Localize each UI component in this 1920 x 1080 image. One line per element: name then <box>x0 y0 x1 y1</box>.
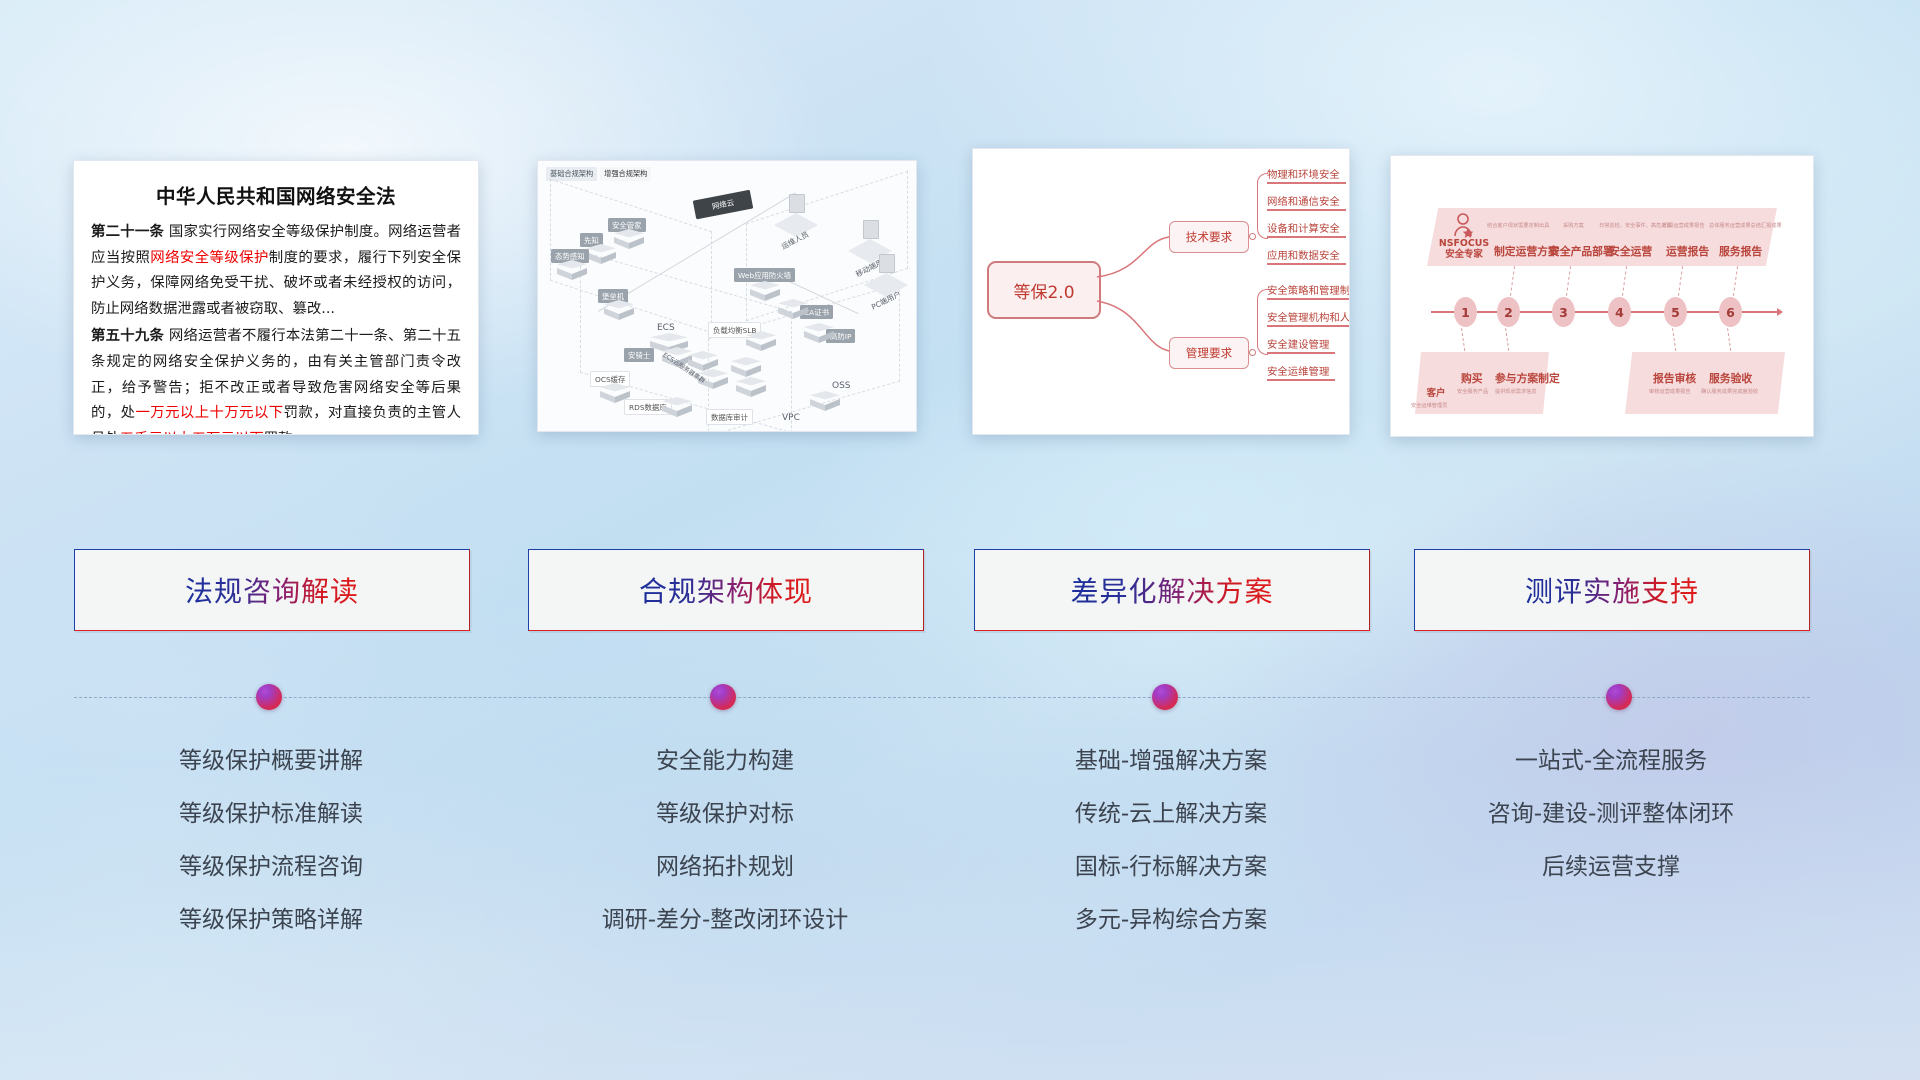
bullet-item: 传统-云上解决方案 <box>974 788 1368 841</box>
bullet-item: 等级保护概要讲解 <box>74 735 468 788</box>
law-article-21-label: 第二十一条 <box>91 224 164 240</box>
headline-label-4: 测评实施支持 <box>1525 570 1699 610</box>
arch-tab-enhanced[interactable]: 增强合规架构 <box>600 167 651 181</box>
rail-bullet-4[interactable] <box>1606 684 1632 710</box>
timeline-bottom-right-label-2: 服务验收 <box>1709 370 1752 386</box>
timeline-label-6: 服务报告 <box>1719 243 1762 259</box>
timeline-node-2[interactable]: 2 <box>1497 297 1520 327</box>
mindmap-leaf-device-compute: 设备和计算安全 <box>1267 220 1340 235</box>
bullet-item: 国标-行标解决方案 <box>974 841 1368 894</box>
arch-box-anti-ddos-ip <box>804 323 834 343</box>
bullet-column-4: 一站式-全流程服务 咨询-建设-测评整体闭环 后续运营支撑 <box>1414 735 1808 894</box>
timeline-sub-3: 采购方案 <box>1563 222 1584 229</box>
mindmap-branch-technical: 技术要求 <box>1169 221 1249 253</box>
mindmap-leaf-physical-env: 物理和环境安全 <box>1267 166 1340 181</box>
rail-bullet-2[interactable] <box>710 684 736 710</box>
timeline-rail <box>74 697 1810 698</box>
timeline-customer-role: 客户 <box>1413 388 1459 399</box>
headline-label-2: 合规架构体现 <box>639 570 813 610</box>
bullet-item: 等级保护流程咨询 <box>74 841 468 894</box>
mindmap-leaf-org-personnel: 安全管理机构和人员 <box>1267 309 1350 324</box>
mindmap-leaf-policy-system: 安全策略和管理制度 <box>1267 282 1350 297</box>
timeline-bottom-right-label-1: 报告审核 <box>1653 370 1696 386</box>
headline-box-2[interactable]: 合规架构体现 <box>528 549 924 631</box>
arch-box-ecs-cluster-d <box>736 377 766 397</box>
arch-box-ecs-cluster-c <box>731 357 761 377</box>
timeline-node-6[interactable]: 6 <box>1719 297 1742 327</box>
timeline-sub-6: 总体服务运营成果总结汇报成果 <box>1709 222 1782 229</box>
bullet-item: 等级保护对标 <box>528 788 922 841</box>
timeline-node-3[interactable]: 3 <box>1552 297 1575 327</box>
mindmap-leaf-construction-mgmt: 安全建设管理 <box>1267 336 1329 351</box>
bullet-item: 等级保护标准解读 <box>74 788 468 841</box>
headline-box-4[interactable]: 测评实施支持 <box>1414 549 1810 631</box>
arch-tab-group[interactable]: 基础合规架构 增强合规架构 <box>546 167 651 181</box>
bullet-item: 咨询-建设-测评整体闭环 <box>1414 788 1808 841</box>
timeline-expert-role-line1: NSFOCUS <box>1439 238 1489 249</box>
arch-box-bastion-host <box>604 300 634 320</box>
timeline-sub-5: 阶段运营成果报告 <box>1663 222 1705 229</box>
card-architecture-diagram[interactable]: 基础合规架构 增强合规架构 网络云 安全管家 先知 态势感知 堡垒机 ECS 安… <box>537 160 917 432</box>
arch-screen-ops-user <box>789 194 805 213</box>
arch-box-oss <box>810 391 840 411</box>
arch-box-xianzhi <box>586 244 616 264</box>
timeline-expert-role-line2: 安全专家 <box>1445 249 1483 260</box>
mindmap-branch-management: 管理要求 <box>1169 337 1249 369</box>
arch-cloud-banner: 网络云 <box>693 190 754 220</box>
arch-box-ca-certificate <box>778 299 808 319</box>
bullet-item: 一站式-全流程服务 <box>1414 735 1808 788</box>
mindmap-leaf-network-comm: 网络和通信安全 <box>1267 193 1340 208</box>
card-service-timeline[interactable]: NSFOCUS 安全专家 结合客户现状需要定制出具 制定运营方案 采购方案 安全… <box>1390 155 1814 437</box>
timeline-bottom-left-sub-2: 提供现状需求信息 <box>1495 388 1537 395</box>
timeline-bottom-left-sub-1: 安全服务产品 <box>1457 388 1488 395</box>
timeline-node-1[interactable]: 1 <box>1454 297 1477 327</box>
arch-box-situational-awareness <box>557 260 587 280</box>
law-article-59-text-3: 罚款。 <box>264 431 307 435</box>
card-mind-map[interactable]: 等保2.0 技术要求 物理和环境安全 网络和通信安全 设备和计算安全 应用和数据… <box>972 148 1350 435</box>
bullet-item: 基础-增强解决方案 <box>974 735 1368 788</box>
arch-box-slb <box>746 331 776 351</box>
arch-screen-pc-user <box>879 254 895 273</box>
timeline-bottom-right-sub-1: 审核运营成果报告 <box>1649 388 1691 395</box>
timeline-sub-4: 日常巡检、安全事件、高危处置 <box>1599 222 1672 229</box>
timeline-customer-band-right <box>1625 352 1785 414</box>
bullet-column-3: 基础-增强解决方案 传统-云上解决方案 国标-行标解决方案 多元-异构综合方案 <box>974 735 1368 947</box>
bullet-column-2: 安全能力构建 等级保护对标 网络拓扑规划 调研-差分-整改闭环设计 <box>528 735 922 947</box>
bullet-item: 等级保护策略详解 <box>74 894 468 947</box>
bullet-item: 后续运营支撑 <box>1414 841 1808 894</box>
headline-box-3[interactable]: 差异化解决方案 <box>974 549 1370 631</box>
timeline-customer-role-sub: 安全运维管理员 <box>1411 402 1447 409</box>
arch-node-anqishi: 安骑士 <box>624 348 654 362</box>
bullet-item: 调研-差分-整改闭环设计 <box>528 894 922 947</box>
headline-label-3: 差异化解决方案 <box>1070 570 1273 610</box>
timeline-sub-2: 结合客户现状需要定制出具 <box>1487 222 1549 229</box>
mindmap-dot-management <box>1249 349 1256 356</box>
arch-box-rds-database <box>662 397 692 417</box>
arch-box-security-housekeeper <box>614 229 644 249</box>
arch-node-database-audit: 数据库审计 <box>706 409 753 425</box>
mindmap-leaf-ops-mgmt: 安全运维管理 <box>1267 363 1329 378</box>
card-law-document[interactable]: 中华人民共和国网络安全法 第二十一条 国家实行网络安全等级保护制度。网络运营者应… <box>73 160 479 435</box>
law-article-59-highlight-1: 一万元以上十万元以下 <box>135 405 283 421</box>
headline-box-1[interactable]: 法规咨询解读 <box>74 549 470 631</box>
timeline-label-3: 安全产品部署 <box>1549 243 1614 259</box>
rail-bullet-1[interactable] <box>256 684 282 710</box>
timeline-node-4[interactable]: 4 <box>1608 297 1631 327</box>
bullet-item: 网络拓扑规划 <box>528 841 922 894</box>
headline-label-1: 法规咨询解读 <box>185 570 359 610</box>
arch-box-waf <box>750 281 780 301</box>
mindmap-dot-technical <box>1249 233 1256 240</box>
timeline-node-5[interactable]: 5 <box>1664 297 1687 327</box>
arch-screen-mobile-user <box>863 220 879 239</box>
timeline-label-4: 安全运营 <box>1609 243 1652 259</box>
mindmap-leaf-app-data: 应用和数据安全 <box>1267 247 1340 262</box>
bullet-column-1: 等级保护概要讲解 等级保护标准解读 等级保护流程咨询 等级保护策略详解 <box>74 735 468 947</box>
law-body: 第二十一条 国家实行网络安全等级保护制度。网络运营者应当按照网络安全等级保护制度… <box>91 220 461 435</box>
timeline-bottom-right-sub-2: 确认服务成果完成度验收 <box>1701 388 1758 395</box>
timeline-bottom-left-label-2: 参与方案制定 <box>1495 370 1560 386</box>
rail-bullet-3[interactable] <box>1152 684 1178 710</box>
law-article-21-highlight: 网络安全等级保护 <box>150 250 269 266</box>
bullet-item: 安全能力构建 <box>528 735 922 788</box>
timeline-expert-role: NSFOCUS 安全专家 <box>1435 238 1493 260</box>
law-article-59-label: 第五十九条 <box>91 328 164 344</box>
law-article-59-highlight-2: 五千元以上五万元以下 <box>120 431 264 435</box>
timeline-bottom-left-label-1: 购买 <box>1461 370 1483 386</box>
timeline-label-5: 运营报告 <box>1666 243 1709 259</box>
arch-node-waf: Web应用防火墙 <box>734 268 795 282</box>
arch-node-vpc: VPC <box>778 411 804 424</box>
law-title: 中华人民共和国网络安全法 <box>91 180 461 209</box>
timeline-axis-arrow-icon <box>1777 308 1783 316</box>
bullet-item: 多元-异构综合方案 <box>974 894 1368 947</box>
timeline-customer-role-label: 客户 <box>1427 388 1446 399</box>
